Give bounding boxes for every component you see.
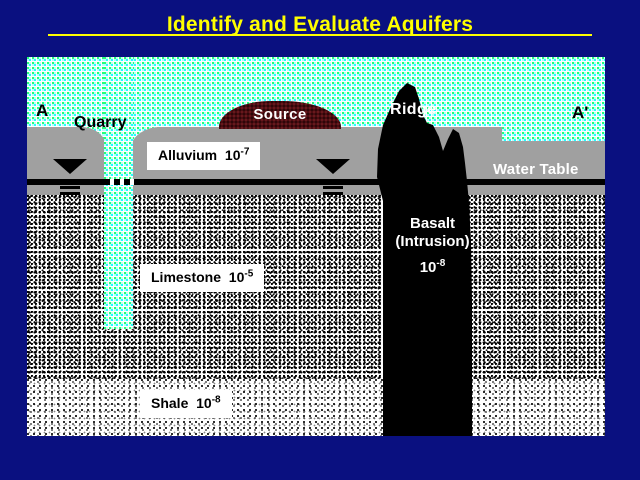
section-marker-a-prime: A' <box>572 103 588 123</box>
limestone-callout: Limestone 10-5 <box>140 264 264 292</box>
water-table-symbol-right <box>316 159 350 195</box>
shale-name: Shale <box>151 395 188 411</box>
water-table-bars-icon <box>60 180 80 195</box>
basalt-conductivity: 10-8 <box>370 259 495 277</box>
alluvium-callout: Alluvium 10-7 <box>147 142 260 170</box>
basalt-label-line1: Basalt <box>370 215 495 233</box>
basalt-conductivity-base: 10 <box>420 259 437 276</box>
water-table-dashed-segment <box>104 179 134 185</box>
shale-layer <box>27 379 605 436</box>
title-underline <box>48 34 592 36</box>
page-title: Identify and Evaluate Aquifers <box>0 14 640 35</box>
limestone-conductivity-exponent: -5 <box>244 268 253 279</box>
alluvium-name: Alluvium <box>158 147 217 163</box>
water-table-label: Water Table <box>493 161 579 178</box>
source-label: Source <box>219 106 341 123</box>
slide-title: Identify and Evaluate Aquifers <box>0 14 640 35</box>
limestone-conductivity-base: 10 <box>229 269 245 285</box>
alluvium-conductivity-exponent: -7 <box>240 146 249 157</box>
basalt-conductivity-exponent: -8 <box>436 258 445 269</box>
water-table-triangle-icon <box>316 159 350 174</box>
cross-section-diagram: Source Water Table A A' Quarry <box>27 57 605 436</box>
basalt-label-line2: (Intrusion) <box>370 233 495 251</box>
slide-canvas: Identify and Evaluate Aquifers Source <box>0 0 640 480</box>
shale-conductivity-exponent: -8 <box>212 394 221 405</box>
water-table-symbol-left <box>53 159 87 195</box>
water-table-bars-icon <box>323 180 343 195</box>
shale-callout: Shale 10-8 <box>140 390 232 418</box>
alluvium-conductivity-base: 10 <box>225 147 241 163</box>
ridge-label: Ridge <box>390 101 436 119</box>
quarry-label: Quarry <box>74 114 126 132</box>
shale-conductivity-base: 10 <box>196 395 212 411</box>
quarry-excavation <box>104 57 133 329</box>
basalt-label: Basalt (Intrusion) 10-8 <box>370 215 495 277</box>
section-marker-a: A <box>36 101 48 121</box>
water-table-triangle-icon <box>53 159 87 174</box>
limestone-name: Limestone <box>151 269 221 285</box>
